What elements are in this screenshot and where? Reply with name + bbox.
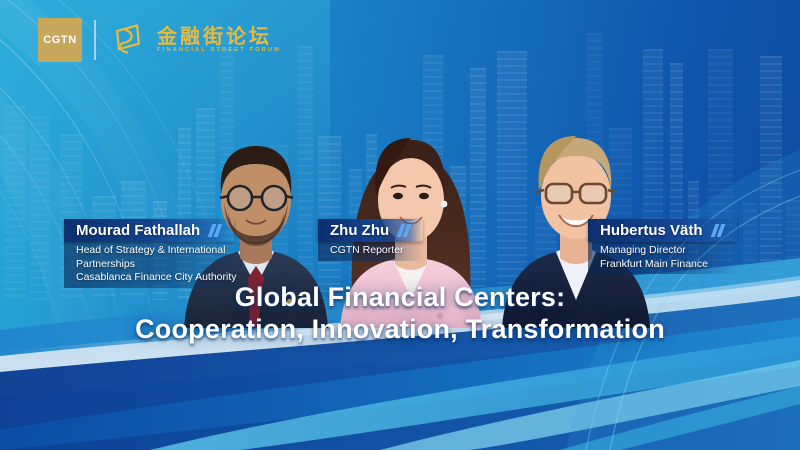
financial-street-forum-logo: 金融街论坛 FINANCIAL STREET FORUM [108, 20, 281, 60]
cgtn-logo: CGTN [38, 18, 82, 62]
forum-name-en: FINANCIAL STREET FORUM [157, 48, 281, 54]
skyline-building [760, 56, 782, 300]
forum-wordmark: 金融街论坛 FINANCIAL STREET FORUM [157, 26, 281, 54]
cgtn-logo-label: CGTN [43, 34, 77, 46]
program-title: Global Financial Centers: Cooperation, I… [0, 281, 800, 346]
program-title-line-1: Global Financial Centers: [235, 282, 566, 312]
skyline-building [30, 116, 50, 300]
skyline-building [4, 106, 25, 300]
logo-bar: CGTN 金融街论坛 FINANCIAL STREET FORUM [38, 18, 281, 62]
nameplate-speaker-2: Zhu Zhu CGTN Reporter [318, 219, 423, 261]
forum-emblem-icon [108, 20, 148, 60]
nameplate-title-block: CGTN Reporter [318, 242, 423, 260]
logo-divider [94, 20, 96, 60]
nameplate-speaker-3: Hubertus Väth Managing Director Frankfur… [588, 219, 737, 274]
nameplate-title-block: Managing Director Frankfurt Main Finance [588, 242, 737, 274]
speaker-3-title-line-2: Frankfurt Main Finance [600, 258, 727, 271]
double-slash-icon [397, 224, 413, 237]
double-slash-icon [208, 224, 224, 237]
speaker-3-title-line-1: Managing Director [600, 244, 727, 257]
speaker-1-title-line-1: Head of Strategy & International [76, 244, 237, 257]
broadcast-title-card: CGTN 金融街论坛 FINANCIAL STREET FORUM [0, 0, 800, 450]
speaker-1-name: Mourad Fathallah [76, 222, 200, 239]
double-slash-icon [711, 224, 727, 237]
program-title-line-2: Cooperation, Innovation, Transformation [0, 313, 800, 345]
nameplate-name-bar: Hubertus Väth [588, 219, 737, 242]
nameplate-name-bar: Zhu Zhu [318, 219, 423, 242]
speaker-1-title-line-2: Partnerships [76, 258, 237, 271]
speaker-3-name: Hubertus Väth [600, 222, 703, 239]
nameplate-name-bar: Mourad Fathallah [64, 219, 234, 242]
nameplate-speaker-1: Mourad Fathallah Head of Strategy & Inte… [64, 219, 247, 288]
forum-name-cn: 金融街论坛 [157, 26, 281, 46]
speaker-2-name: Zhu Zhu [330, 222, 389, 239]
speaker-2-title-line-1: CGTN Reporter [330, 244, 413, 257]
